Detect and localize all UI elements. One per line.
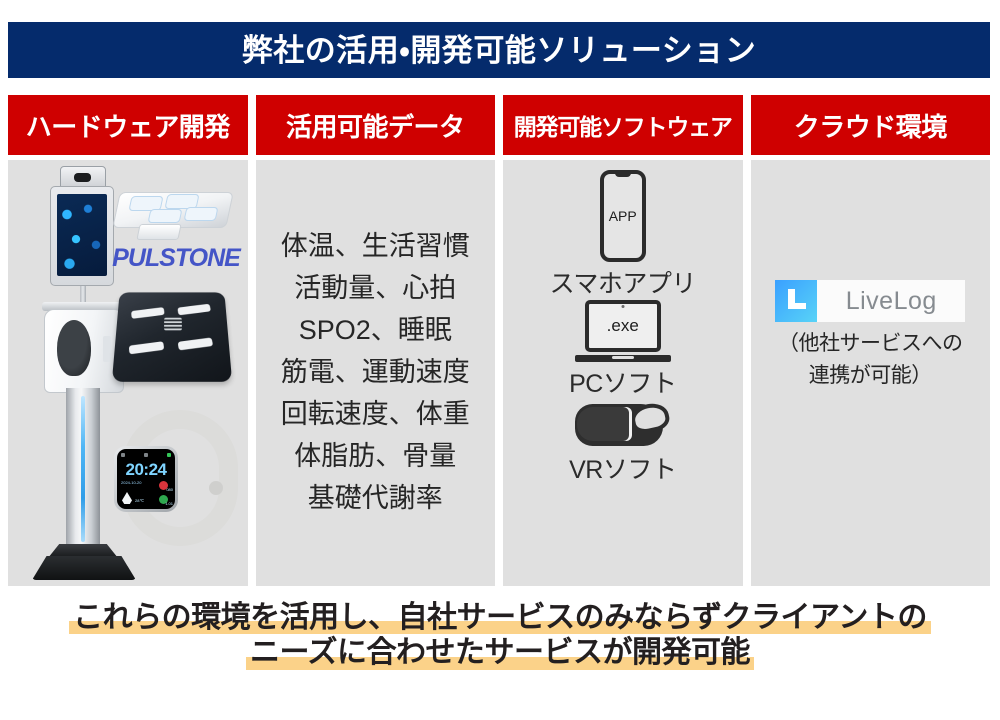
footer-line-1: これらの環境を活用し、自社サービスのみならずクライアントの [69, 600, 931, 635]
watch-date: 2024-10-20 [121, 480, 141, 485]
kiosk-base [32, 556, 136, 580]
column-header-cloud: クラウド環境 [751, 95, 991, 155]
watch-weather-icon [122, 492, 132, 504]
pulstone-mat-icon [116, 182, 234, 238]
mat-pad [148, 209, 183, 223]
mat-pad [184, 207, 219, 221]
scale-display [164, 318, 182, 331]
watch-case: 20:24 2024-10-20 080 1.01 28℃ [114, 446, 178, 512]
scale-electrode [178, 337, 214, 350]
data-type-item: 体温、生活習慣 [281, 227, 470, 267]
smartphone-icon: APP [600, 170, 646, 262]
watch-metric-2: 1.01 [165, 501, 173, 506]
kiosk-screen-graphic [57, 194, 107, 276]
pulstone-brand-logo: PULSTONE [104, 244, 248, 273]
watch-battery-icon [167, 453, 171, 457]
software-item-label: VRソフト [569, 450, 676, 486]
mat-remote [136, 224, 181, 240]
laptop-base [575, 355, 671, 362]
scale-electrode [131, 307, 165, 319]
sanitizer-dispenser-icon [44, 309, 124, 393]
column-header-software: 開発可能ソフトウェア [503, 95, 743, 155]
watch-status-bar [121, 452, 171, 458]
column-body-cloud: LiveLog （他社サービスへの 連携が可能） [751, 160, 991, 586]
column-data: 活用可能データ 体温、生活習慣 活動量、心拍 SPO2、睡眠 筋電、運動速度 回… [256, 95, 496, 586]
column-hardware: ハードウェア開発 [8, 95, 248, 586]
data-type-list: 体温、生活習慣 活動量、心拍 SPO2、睡眠 筋電、運動速度 回転速度、体重 体… [256, 160, 496, 586]
cloud-service-block: LiveLog （他社サービスへの 連携が可能） [751, 160, 991, 586]
slide-title-banner: 弊社の活用・開発可能ソリューション [8, 22, 990, 78]
smartphone-screen-text: APP [609, 208, 637, 224]
column-body-hardware: PULSTONE [8, 160, 248, 586]
column-cloud: クラウド環境 LiveLog （他社サービスへの 連携が可能） [751, 95, 991, 586]
livelog-logo: LiveLog [775, 280, 965, 322]
kiosk-led-strip [81, 396, 85, 542]
laptop-icon: .exe [575, 300, 671, 362]
kiosk-camera-icon [60, 166, 106, 188]
software-item-label: PCソフト [569, 364, 676, 400]
livelog-mark-icon [775, 280, 817, 322]
vr-front-face [577, 407, 629, 441]
software-item-label: スマホアプリ [550, 264, 696, 300]
page-title: 弊社の活用・開発可能ソリューション [242, 35, 756, 66]
kiosk-base-top [48, 544, 118, 558]
footer-summary: これらの環境を活用し、自社サービスのみならずクライアントの ニーズに合わせたサー… [0, 600, 1000, 710]
software-item-pc: .exe PCソフト [569, 300, 676, 400]
column-body-software: APP スマホアプリ .exe PCソフト [503, 160, 743, 586]
watch-face: 20:24 2024-10-20 080 1.01 28℃ [117, 449, 175, 509]
data-type-item: SPO2、睡眠 [299, 311, 452, 351]
cloud-note: （他社サービスへの 連携が可能） [778, 328, 963, 391]
software-item-smartphone: APP スマホアプリ [550, 170, 696, 300]
column-software: 開発可能ソフトウェア APP スマホアプリ .exe PCソ [503, 95, 743, 586]
footer-text: これらの環境を活用し、自社サービスのみならずクライアントの [73, 601, 927, 634]
footer-line-2: ニーズに合わせたサービスが開発可能 [246, 635, 754, 670]
watch-time: 20:24 [117, 460, 175, 480]
livelog-name: LiveLog [817, 287, 965, 316]
watch-metric-1: 080 [166, 487, 173, 492]
data-type-item: 回転速度、体重 [281, 395, 470, 435]
software-type-list: APP スマホアプリ .exe PCソフト [503, 160, 743, 586]
watch-status-dot [144, 453, 148, 457]
cloud-note-line: （他社サービスへの [778, 328, 963, 360]
data-type-item: 基礎代謝率 [308, 479, 443, 519]
vr-headset-icon [575, 400, 671, 448]
scale-electrode [177, 304, 211, 316]
smart-watch-icon: 20:24 2024-10-20 080 1.01 28℃ [112, 410, 238, 546]
column-header-data: 活用可能データ [256, 95, 496, 155]
footer-text: ニーズに合わせたサービスが開発可能 [250, 636, 750, 669]
column-body-data: 体温、生活習慣 活動量、心拍 SPO2、睡眠 筋電、運動速度 回転速度、体重 体… [256, 160, 496, 586]
column-header-hardware: ハードウェア開発 [8, 95, 248, 155]
cloud-note-line: 連携が可能） [778, 360, 963, 392]
body-composition-scale-icon [112, 292, 232, 381]
scale-electrode [129, 341, 165, 354]
data-type-item: 体脂肪、骨量 [294, 437, 456, 477]
solution-columns: ハードウェア開発 [8, 95, 990, 586]
software-item-vr: VRソフト [569, 400, 676, 486]
data-type-item: 活動量、心拍 [294, 269, 456, 309]
laptop-lid: .exe [585, 300, 661, 352]
watch-temperature: 28℃ [135, 498, 144, 503]
hardware-photo-stage: PULSTONE [8, 160, 248, 586]
data-type-item: 筋電、運動速度 [281, 353, 470, 393]
laptop-screen-text: .exe [607, 316, 639, 336]
watch-status-dot [121, 453, 125, 457]
